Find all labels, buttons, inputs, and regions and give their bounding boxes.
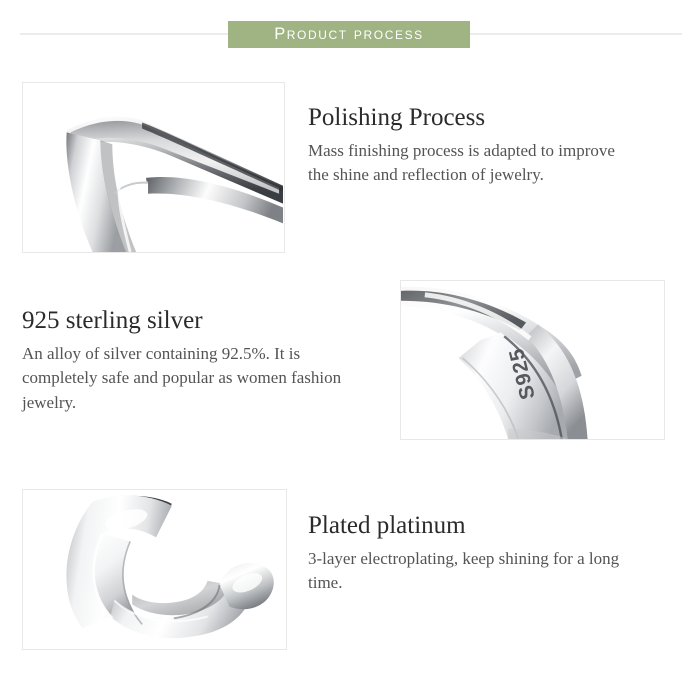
- heading-sterling: 925 sterling silver: [22, 307, 352, 335]
- header-rule-right: [470, 33, 682, 35]
- body-plated: 3-layer electroplating, keep shining for…: [308, 547, 638, 597]
- text-block-sterling: 925 sterling silver An alloy of silver c…: [22, 307, 352, 416]
- heading-polishing: Polishing Process: [308, 104, 638, 132]
- text-block-polishing: Polishing Process Mass finishing process…: [308, 104, 638, 188]
- text-block-plated: Plated platinum 3-layer electroplating, …: [308, 512, 638, 596]
- header-rule-left: [20, 33, 230, 35]
- body-polishing: Mass finishing process is adapted to imp…: [308, 139, 638, 189]
- heading-plated: Plated platinum: [308, 512, 638, 540]
- ring-hallmark-illustration: S925: [401, 281, 664, 439]
- product-image-panel-plated: [22, 489, 287, 650]
- ring-apex-illustration: [23, 83, 284, 252]
- product-photo-plated: [23, 490, 286, 649]
- page-header: Product process: [0, 0, 700, 62]
- banner-label: Product process: [274, 26, 424, 44]
- product-photo-polishing: [23, 83, 284, 252]
- body-sterling: An alloy of silver containing 92.5%. It …: [22, 342, 352, 417]
- product-photo-sterling: S925: [401, 281, 664, 439]
- product-image-panel-polishing: [22, 82, 285, 253]
- ring-curve-illustration: [23, 490, 286, 649]
- section-title-banner: Product process: [228, 21, 470, 48]
- product-image-panel-sterling: S925: [400, 280, 665, 440]
